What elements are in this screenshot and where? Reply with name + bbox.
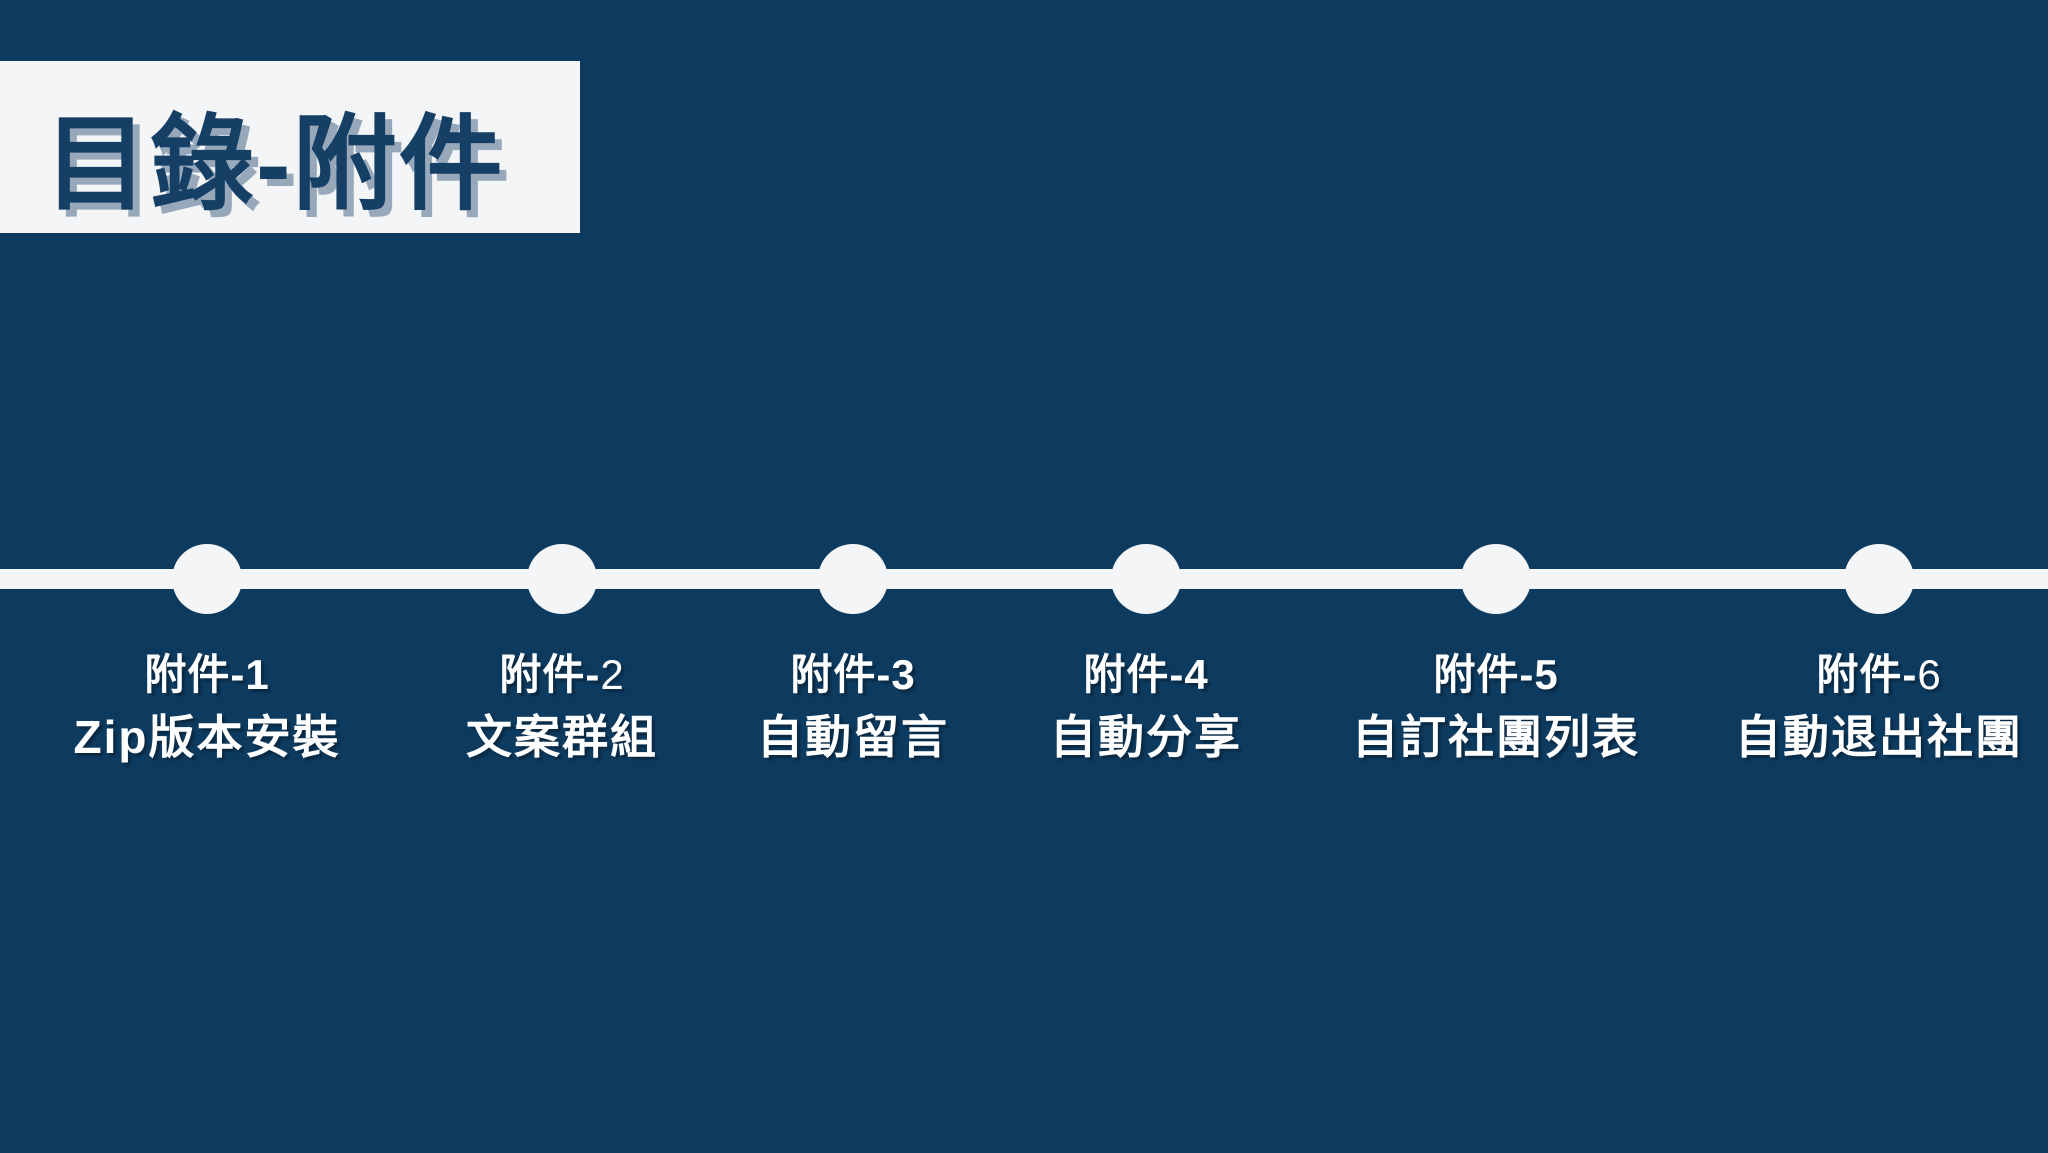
timeline-node-kicker: 附件-6: [1649, 645, 2048, 705]
timeline-dot-icon[interactable]: [1111, 544, 1181, 614]
timeline-node-kicker-prefix: 附件-: [499, 651, 600, 698]
timeline-dot-icon[interactable]: [818, 544, 888, 614]
timeline-node-kicker-prefix: 附件-: [1816, 651, 1917, 698]
timeline-node-number: 1: [245, 651, 269, 698]
timeline-node-title: 自動退出社團: [1649, 705, 2048, 769]
timeline-dot-icon[interactable]: [527, 544, 597, 614]
timeline-node-number: 6: [1917, 651, 1941, 698]
timeline-node-list: 附件-1Zip版本安裝附件-2文案群組附件-3自動留言附件-4自動分享附件-5自…: [0, 0, 2048, 1153]
timeline-dot-icon[interactable]: [1461, 544, 1531, 614]
timeline-dot-icon[interactable]: [172, 544, 242, 614]
timeline-node-label: 附件-6自動退出社團: [1649, 645, 2048, 769]
slide-canvas: 目錄-附件 附件-1Zip版本安裝附件-2文案群組附件-3自動留言附件-4自動分…: [0, 0, 2048, 1153]
timeline-node-number: 2: [600, 651, 624, 698]
timeline-node-kicker-prefix: 附件-: [1433, 651, 1534, 698]
timeline-node-number: 3: [891, 651, 915, 698]
timeline-node-kicker-prefix: 附件-: [790, 651, 891, 698]
timeline-node-kicker-prefix: 附件-: [1083, 651, 1184, 698]
timeline-node-kicker-prefix: 附件-: [144, 651, 245, 698]
timeline-node-number: 4: [1184, 651, 1208, 698]
timeline-node-number: 5: [1534, 651, 1558, 698]
timeline-dot-icon[interactable]: [1844, 544, 1914, 614]
